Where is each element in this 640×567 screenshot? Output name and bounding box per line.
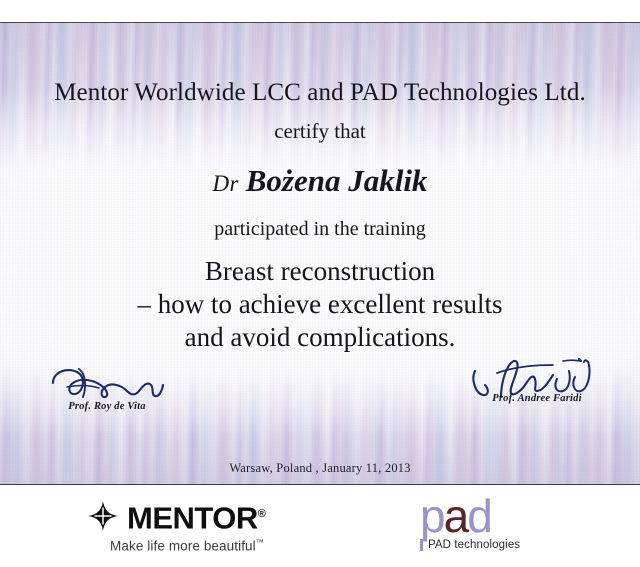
signature-block-right: Prof. Andree Faridi xyxy=(452,355,622,404)
handwritten-signature-icon xyxy=(452,355,622,397)
four-pointed-star-icon xyxy=(88,501,118,531)
recipient-line: DrBożena Jaklik xyxy=(0,163,640,199)
course-title-line-3: and avoid complications. xyxy=(0,321,640,354)
participation-line: participated in the training xyxy=(0,218,640,241)
logo-footer: MENTOR® Make life more beautiful™ pad PA… xyxy=(0,485,640,567)
recipient-honorific: Dr xyxy=(213,171,239,196)
pad-letter-p: p xyxy=(420,490,444,542)
certificate-body: Mentor Worldwide LCC and PAD Technologie… xyxy=(0,23,640,484)
mentor-tagline-text: Make life more beautiful xyxy=(110,539,256,554)
signatory-name-right: Prof. Andree Faridi xyxy=(452,393,622,404)
recipient-name: Bożena Jaklik xyxy=(246,163,428,198)
top-white-margin xyxy=(0,0,640,22)
course-title: Breast reconstruction – how to achieve e… xyxy=(0,255,640,354)
mentor-wordmark-text: MENTOR xyxy=(127,500,258,535)
certificate-document: Mentor Worldwide LCC and PAD Technologie… xyxy=(0,0,640,567)
mentor-logo: MENTOR® Make life more beautiful™ xyxy=(88,499,266,554)
pad-letter-a: a xyxy=(444,490,468,542)
handwritten-signature-icon xyxy=(22,363,192,405)
mentor-wordmark: MENTOR® xyxy=(127,499,266,533)
pad-subtitle: PAD technologies xyxy=(420,539,540,551)
mentor-logo-row: MENTOR® xyxy=(88,499,266,533)
pad-letter-d: d xyxy=(467,490,491,542)
certify-line: certify that xyxy=(0,119,640,144)
pad-technologies-logo: pad PAD technologies xyxy=(420,494,540,551)
place-and-date: Warsaw, Poland , January 11, 2013 xyxy=(0,461,640,476)
mentor-tagline: Make life more beautiful™ xyxy=(110,538,264,554)
issuer-line: Mentor Worldwide LCC and PAD Technologie… xyxy=(0,79,640,107)
trademark-icon: ™ xyxy=(256,538,264,547)
course-title-line-2: – how to achieve excellent results xyxy=(0,288,640,321)
signature-block-left: Prof. Roy de Vita xyxy=(22,363,192,412)
signatory-name-left: Prof. Roy de Vita xyxy=(22,401,192,412)
course-title-line-1: Breast reconstruction xyxy=(0,255,640,288)
registered-trademark-icon: ® xyxy=(258,508,266,520)
pad-wordmark: pad xyxy=(420,494,540,538)
